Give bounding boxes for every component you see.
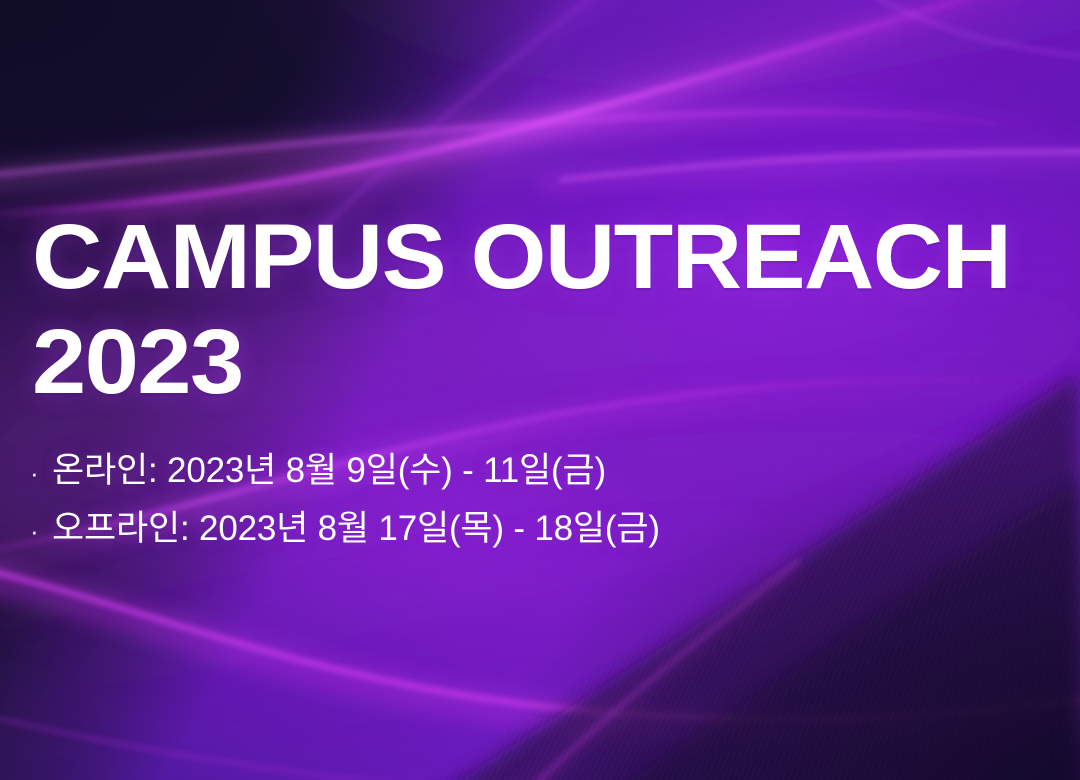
poster-canvas: Campus Outreach 2023 · 온라인: 2023년 8월 9일(… (0, 0, 1080, 780)
offline-schedule-text: 오프라인: 2023년 8월 17일(목) - 18일(금) (52, 501, 660, 557)
bullet-icon: · (30, 503, 52, 559)
page-title: Campus Outreach 2023 (32, 205, 1080, 415)
event-date-list: · 온라인: 2023년 8월 9일(수) - 11일(금) · 오프라인: 2… (30, 443, 1040, 559)
online-schedule-text: 온라인: 2023년 8월 9일(수) - 11일(금) (52, 443, 606, 499)
poster-content: Campus Outreach 2023 · 온라인: 2023년 8월 9일(… (30, 0, 1050, 780)
list-item: · 온라인: 2023년 8월 9일(수) - 11일(금) (30, 443, 1040, 501)
list-item: · 오프라인: 2023년 8월 17일(목) - 18일(금) (30, 501, 1040, 559)
bullet-icon: · (30, 445, 52, 501)
